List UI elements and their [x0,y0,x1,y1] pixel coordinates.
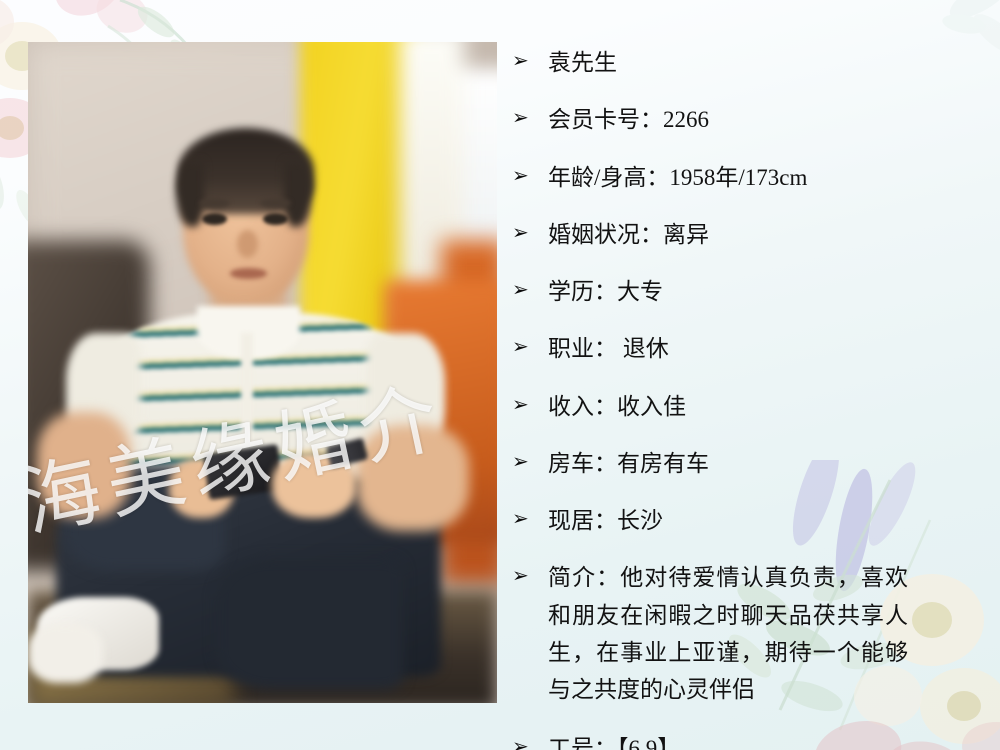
arrow-bullet-icon: ➢ [512,216,548,250]
arrow-bullet-icon: ➢ [512,730,548,750]
profile-item-education: ➢ 学历：大专 [512,273,962,310]
profile-item-marital-status: ➢ 婚姻状况：离异 [512,216,962,253]
profile-education-value: 学历：大专 [548,273,962,310]
profile-item-occupation: ➢ 职业： 退休 [512,330,962,367]
photo-person-shin [216,558,404,690]
arrow-bullet-icon: ➢ [512,330,548,364]
arrow-bullet-icon: ➢ [512,445,548,479]
photo-person-eyebrow-left [199,198,230,208]
profile-info-list: ➢ 袁先生 ➢ 会员卡号：2266 ➢ 年龄/身高：1958年/173cm ➢ … [512,44,962,750]
arrow-bullet-icon: ➢ [512,559,548,593]
profile-item-staff-no: ➢ 工号：【6.9】 [512,730,962,750]
profile-item-bio: ➢ 简介：他对待爱情认真负责，喜欢和朋友在闲暇之时聊天品茯共享人生，在事业上亚谨… [512,559,962,708]
photo-person-mouth [230,268,268,279]
profile-age-height-value: 年龄/身高：1958年/173cm [548,159,962,196]
profile-item-age-height: ➢ 年龄/身高：1958年/173cm [512,159,962,196]
profile-marital-status-value: 婚姻状况：离异 [548,216,962,253]
photo-person-eyebrow-right [260,198,291,208]
arrow-bullet-icon: ➢ [512,388,548,422]
arrow-bullet-icon: ➢ [512,101,548,135]
profile-staff-no-value: 工号：【6.9】 [548,730,962,750]
profile-bio-value: 简介：他对待爱情认真负责，喜欢和朋友在闲暇之时聊天品茯共享人生，在事业上亚谨，期… [548,559,908,708]
photo-person-hair-left [176,161,204,227]
profile-item-income: ➢ 收入：收入佳 [512,388,962,425]
photo-person-foot [28,624,103,683]
arrow-bullet-icon: ➢ [512,159,548,193]
profile-residence-value: 现居：长沙 [548,502,962,539]
profile-income-value: 收入：收入佳 [548,388,962,425]
profile-item-house-car: ➢ 房车：有房有车 [512,445,962,482]
arrow-bullet-icon: ➢ [512,44,548,78]
photo-person-eye-right [263,213,288,226]
arrow-bullet-icon: ➢ [512,273,548,307]
profile-item-member-card-no: ➢ 会员卡号：2266 [512,101,962,138]
member-photo: 海美缘婚介 [28,42,497,703]
profile-house-car-value: 房车：有房有车 [548,445,962,482]
profile-occupation-value: 职业： 退休 [548,330,962,367]
profile-member-card-value: 会员卡号：2266 [548,101,962,138]
arrow-bullet-icon: ➢ [512,502,548,536]
photo-person-eye-left [202,213,227,226]
profile-item-residence: ➢ 现居：长沙 [512,502,962,539]
profile-item-name: ➢ 袁先生 [512,44,962,81]
profile-name-value: 袁先生 [548,44,962,81]
